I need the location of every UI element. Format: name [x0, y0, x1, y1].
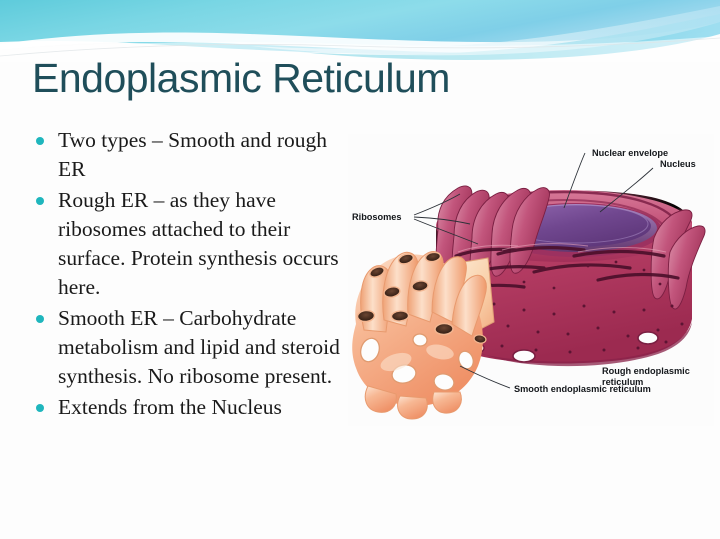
- list-item-text: Rough ER – as they have ribosomes attach…: [58, 188, 339, 299]
- list-item-text: Two types – Smooth and rough ER: [58, 128, 327, 181]
- list-item: Two types – Smooth and rough ER: [30, 126, 348, 184]
- list-item-text: Smooth ER – Carbohydrate metabolism and …: [58, 306, 340, 388]
- header-wave-banner: [0, 0, 720, 62]
- bullet-list: Two types – Smooth and rough ER Rough ER…: [30, 126, 348, 424]
- list-item: Smooth ER – Carbohydrate metabolism and …: [30, 304, 348, 391]
- bullet-dot-icon: [36, 315, 44, 323]
- bullet-dot-icon: [36, 137, 44, 145]
- bullet-dot-icon: [36, 404, 44, 412]
- list-item-text: Extends from the Nucleus: [58, 395, 282, 419]
- label-smooth-er: Smooth endoplasmic reticulum: [514, 384, 651, 394]
- list-item: Extends from the Nucleus: [30, 393, 348, 422]
- bullet-dot-icon: [36, 197, 44, 205]
- label-nucleus: Nucleus: [660, 159, 696, 169]
- label-ribosomes: Ribosomes: [352, 212, 402, 222]
- endoplasmic-reticulum-diagram: Nuclear envelope Nucleus Ribosomes Rough…: [348, 134, 714, 426]
- page-title: Endoplasmic Reticulum: [32, 55, 450, 102]
- presentation-slide: Endoplasmic Reticulum Two types – Smooth…: [0, 0, 720, 539]
- list-item: Rough ER – as they have ribosomes attach…: [30, 186, 348, 302]
- label-nuclear-envelope: Nuclear envelope: [592, 148, 668, 158]
- label-rough-er-line1: Rough endoplasmic: [602, 366, 690, 376]
